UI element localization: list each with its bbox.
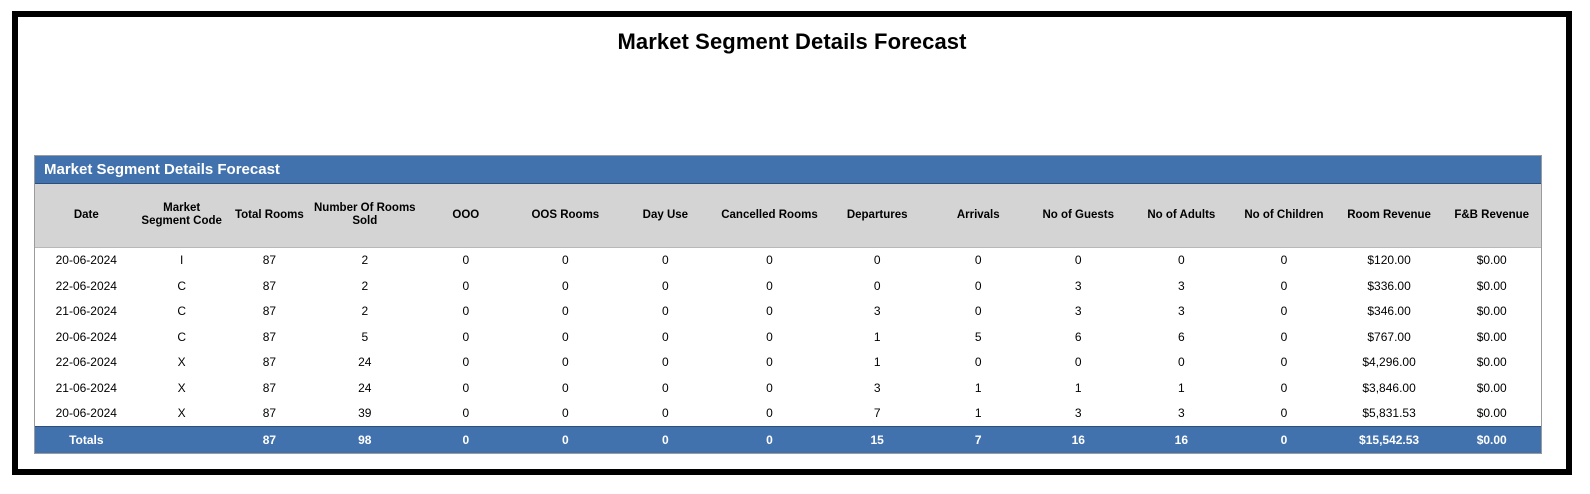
table-cell: 0	[515, 247, 616, 273]
market-segment-forecast-table: Date Market Segment Code Total Rooms Num…	[35, 184, 1541, 453]
table-cell: 87	[226, 375, 313, 401]
table-row[interactable]: 20-06-2024I872000000000$120.00$0.00	[35, 247, 1541, 273]
totals-cell: 0	[515, 427, 616, 454]
column-header-total-rooms[interactable]: Total Rooms	[226, 184, 313, 247]
table-cell: 0	[417, 324, 515, 350]
totals-cell: 87	[226, 427, 313, 454]
table-cell: $0.00	[1442, 401, 1541, 427]
table-cell: 39	[313, 401, 417, 427]
table-cell: 1	[1131, 375, 1233, 401]
table-cell: 87	[226, 247, 313, 273]
table-cell: $0.00	[1442, 350, 1541, 376]
table-cell: 0	[824, 247, 931, 273]
table-cell: 0	[824, 273, 931, 299]
table-cell: 0	[1026, 350, 1131, 376]
table-row[interactable]: 22-06-2024C872000000330$336.00$0.00	[35, 273, 1541, 299]
table-cell: 1	[931, 401, 1026, 427]
table-cell: 87	[226, 350, 313, 376]
table-cell: 0	[417, 247, 515, 273]
table-cell: 0	[715, 401, 824, 427]
table-cell: 87	[226, 401, 313, 427]
table-cell: 0	[1026, 247, 1131, 273]
column-header-ooo[interactable]: OOO	[417, 184, 515, 247]
table-cell: 0	[1232, 401, 1336, 427]
table-row[interactable]: 21-06-2024C872000030330$346.00$0.00	[35, 299, 1541, 325]
totals-cell: 0	[715, 427, 824, 454]
table-row[interactable]: 21-06-2024X8724000031110$3,846.00$0.00	[35, 375, 1541, 401]
table-body: 20-06-2024I872000000000$120.00$0.0022-06…	[35, 247, 1541, 453]
table-cell: 3	[1026, 299, 1131, 325]
table-cell: C	[138, 299, 226, 325]
column-header-no-of-adults[interactable]: No of Adults	[1131, 184, 1233, 247]
page-title: Market Segment Details Forecast	[18, 29, 1566, 55]
table-cell: 0	[715, 350, 824, 376]
totals-cell: 0	[417, 427, 515, 454]
table-cell: 24	[313, 375, 417, 401]
table-cell: $0.00	[1442, 375, 1541, 401]
column-header-number-of-rooms-sold[interactable]: Number Of Rooms Sold	[313, 184, 417, 247]
table-cell: 1	[824, 324, 931, 350]
table-cell: 21-06-2024	[35, 299, 138, 325]
table-row[interactable]: 20-06-2024X8739000071330$5,831.53$0.00	[35, 401, 1541, 427]
totals-cell: 16	[1026, 427, 1131, 454]
table-cell: 0	[715, 273, 824, 299]
table-cell: 0	[616, 299, 716, 325]
table-cell: 0	[715, 299, 824, 325]
table-cell: 1	[931, 375, 1026, 401]
table-cell: 0	[1131, 350, 1233, 376]
table-cell: 87	[226, 273, 313, 299]
column-header-arrivals[interactable]: Arrivals	[931, 184, 1026, 247]
table-row[interactable]: 22-06-2024X8724000010000$4,296.00$0.00	[35, 350, 1541, 376]
table-cell: $0.00	[1442, 273, 1541, 299]
table-cell: $0.00	[1442, 324, 1541, 350]
table-cell: 20-06-2024	[35, 247, 138, 273]
table-cell: 1	[1026, 375, 1131, 401]
table-cell: 6	[1026, 324, 1131, 350]
totals-cell: 0	[1232, 427, 1336, 454]
totals-cell: 15	[824, 427, 931, 454]
table-title-bar: Market Segment Details Forecast	[35, 156, 1541, 184]
table-cell: X	[138, 375, 226, 401]
table-cell: $4,296.00	[1336, 350, 1443, 376]
table-cell: 0	[1232, 273, 1336, 299]
table-cell: $3,846.00	[1336, 375, 1443, 401]
table-cell: $0.00	[1442, 299, 1541, 325]
report-frame: Market Segment Details Forecast Market S…	[12, 11, 1572, 475]
table-cell: 3	[1026, 401, 1131, 427]
table-cell: $346.00	[1336, 299, 1443, 325]
table-cell: 0	[715, 375, 824, 401]
totals-cell: 0	[616, 427, 716, 454]
totals-cell: 7	[931, 427, 1026, 454]
table-cell: 2	[313, 299, 417, 325]
table-cell: 0	[616, 273, 716, 299]
table-cell: 0	[515, 324, 616, 350]
table-cell: 0	[715, 324, 824, 350]
table-cell: 87	[226, 299, 313, 325]
column-header-cancelled-rooms[interactable]: Cancelled Rooms	[715, 184, 824, 247]
table-cell: X	[138, 401, 226, 427]
table-cell: 0	[616, 324, 716, 350]
table-row[interactable]: 20-06-2024C875000015660$767.00$0.00	[35, 324, 1541, 350]
table-cell: 3	[824, 299, 931, 325]
table-cell: 0	[715, 247, 824, 273]
table-cell: 0	[515, 375, 616, 401]
table-cell: 0	[1232, 375, 1336, 401]
table-cell: 0	[616, 247, 716, 273]
table-cell: 5	[931, 324, 1026, 350]
table-header-row: Date Market Segment Code Total Rooms Num…	[35, 184, 1541, 247]
table-cell: I	[138, 247, 226, 273]
column-header-fb-revenue[interactable]: F&B Revenue	[1442, 184, 1541, 247]
table-cell: 0	[1232, 350, 1336, 376]
table-cell: 1	[824, 350, 931, 376]
table-cell: 0	[1232, 324, 1336, 350]
table-cell: 0	[616, 375, 716, 401]
table-cell: X	[138, 350, 226, 376]
column-header-date[interactable]: Date	[35, 184, 138, 247]
table-cell: 24	[313, 350, 417, 376]
column-header-day-use[interactable]: Day Use	[616, 184, 716, 247]
table-cell: 0	[417, 375, 515, 401]
table-cell: 5	[313, 324, 417, 350]
table-cell: $336.00	[1336, 273, 1443, 299]
table-cell: 22-06-2024	[35, 350, 138, 376]
table-cell: 0	[616, 350, 716, 376]
totals-cell	[138, 427, 226, 454]
table-cell: $767.00	[1336, 324, 1443, 350]
totals-cell: $15,542.53	[1336, 427, 1443, 454]
table-cell: $5,831.53	[1336, 401, 1443, 427]
table-header: Date Market Segment Code Total Rooms Num…	[35, 184, 1541, 247]
table-cell: 6	[1131, 324, 1233, 350]
table-cell: 0	[931, 247, 1026, 273]
table-cell: 20-06-2024	[35, 401, 138, 427]
column-header-departures[interactable]: Departures	[824, 184, 931, 247]
table-cell: 0	[931, 299, 1026, 325]
table-cell: 21-06-2024	[35, 375, 138, 401]
totals-cell: 16	[1131, 427, 1233, 454]
table-cell: 0	[931, 273, 1026, 299]
table-cell: C	[138, 324, 226, 350]
table-cell: 2	[313, 247, 417, 273]
forecast-table-block: Market Segment Details Forecast Date Mar…	[34, 155, 1542, 454]
table-cell: $0.00	[1442, 247, 1541, 273]
table-cell: 0	[417, 350, 515, 376]
table-cell: C	[138, 273, 226, 299]
table-cell: 22-06-2024	[35, 273, 138, 299]
table-cell: 0	[417, 299, 515, 325]
table-cell: 0	[616, 401, 716, 427]
table-cell: 0	[1232, 299, 1336, 325]
table-cell: 7	[824, 401, 931, 427]
table-cell: 3	[1131, 401, 1233, 427]
column-header-market-segment-code[interactable]: Market Segment Code	[138, 184, 226, 247]
totals-cell: 98	[313, 427, 417, 454]
table-cell: 0	[515, 401, 616, 427]
totals-label: Totals	[35, 427, 138, 454]
column-header-no-of-guests[interactable]: No of Guests	[1026, 184, 1131, 247]
table-cell: 3	[1026, 273, 1131, 299]
table-cell: $120.00	[1336, 247, 1443, 273]
column-header-room-revenue[interactable]: Room Revenue	[1336, 184, 1443, 247]
table-cell: 0	[931, 350, 1026, 376]
column-header-no-of-children[interactable]: No of Children	[1232, 184, 1336, 247]
table-cell: 2	[313, 273, 417, 299]
table-cell: 20-06-2024	[35, 324, 138, 350]
table-cell: 3	[1131, 299, 1233, 325]
totals-row: Totals8798000015716160$15,542.53$0.00	[35, 427, 1541, 454]
table-cell: 3	[1131, 273, 1233, 299]
table-cell: 0	[417, 273, 515, 299]
table-cell: 0	[1131, 247, 1233, 273]
table-cell: 0	[515, 273, 616, 299]
totals-cell: $0.00	[1442, 427, 1541, 454]
table-cell: 0	[515, 350, 616, 376]
table-cell: 87	[226, 324, 313, 350]
table-cell: 0	[515, 299, 616, 325]
table-cell: 0	[1232, 247, 1336, 273]
table-cell: 0	[417, 401, 515, 427]
table-cell: 3	[824, 375, 931, 401]
column-header-oos-rooms[interactable]: OOS Rooms	[515, 184, 616, 247]
